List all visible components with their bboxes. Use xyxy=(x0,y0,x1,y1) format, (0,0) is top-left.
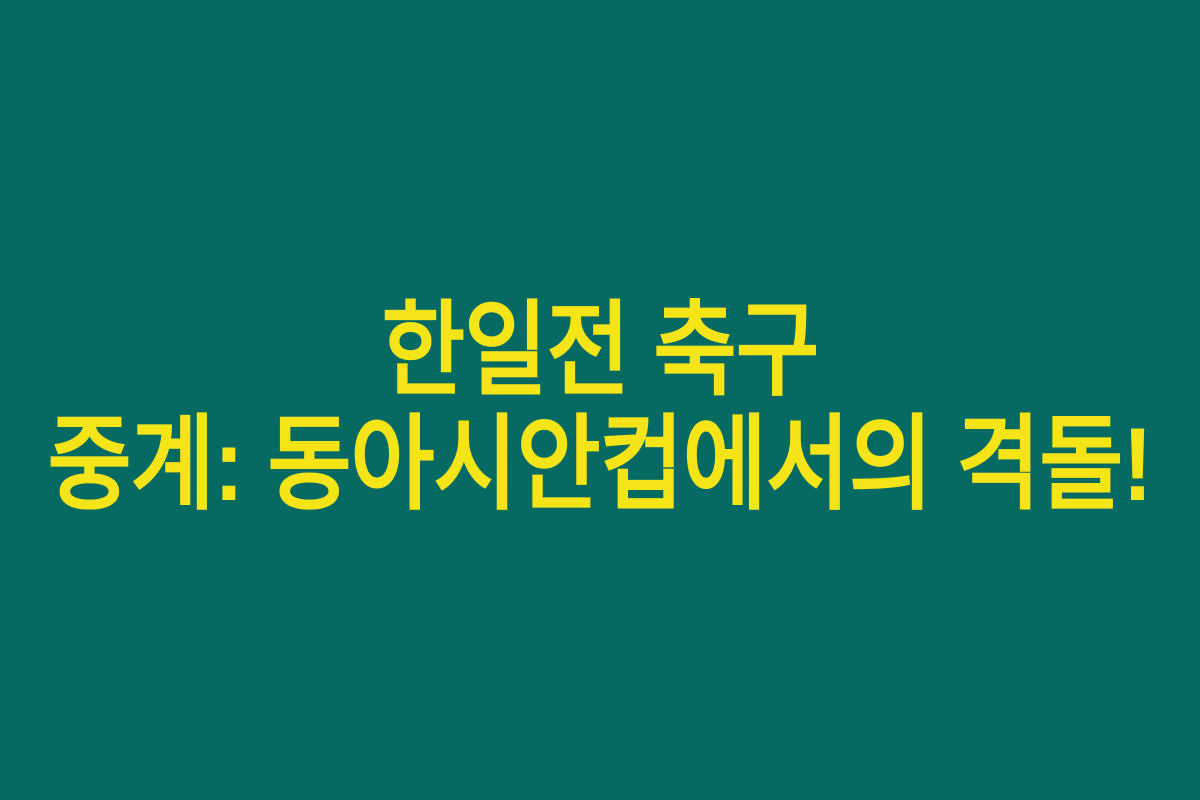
title-line-secondary: 중계: 동아시안컵에서의 격돌! xyxy=(48,418,1152,512)
title-block: 한일전 축구 중계: 동아시안컵에서의 격돌! xyxy=(0,304,1200,512)
title-card-canvas: 한일전 축구 중계: 동아시안컵에서의 격돌! xyxy=(0,0,1200,800)
title-line-primary: 한일전 축구 xyxy=(382,304,819,398)
